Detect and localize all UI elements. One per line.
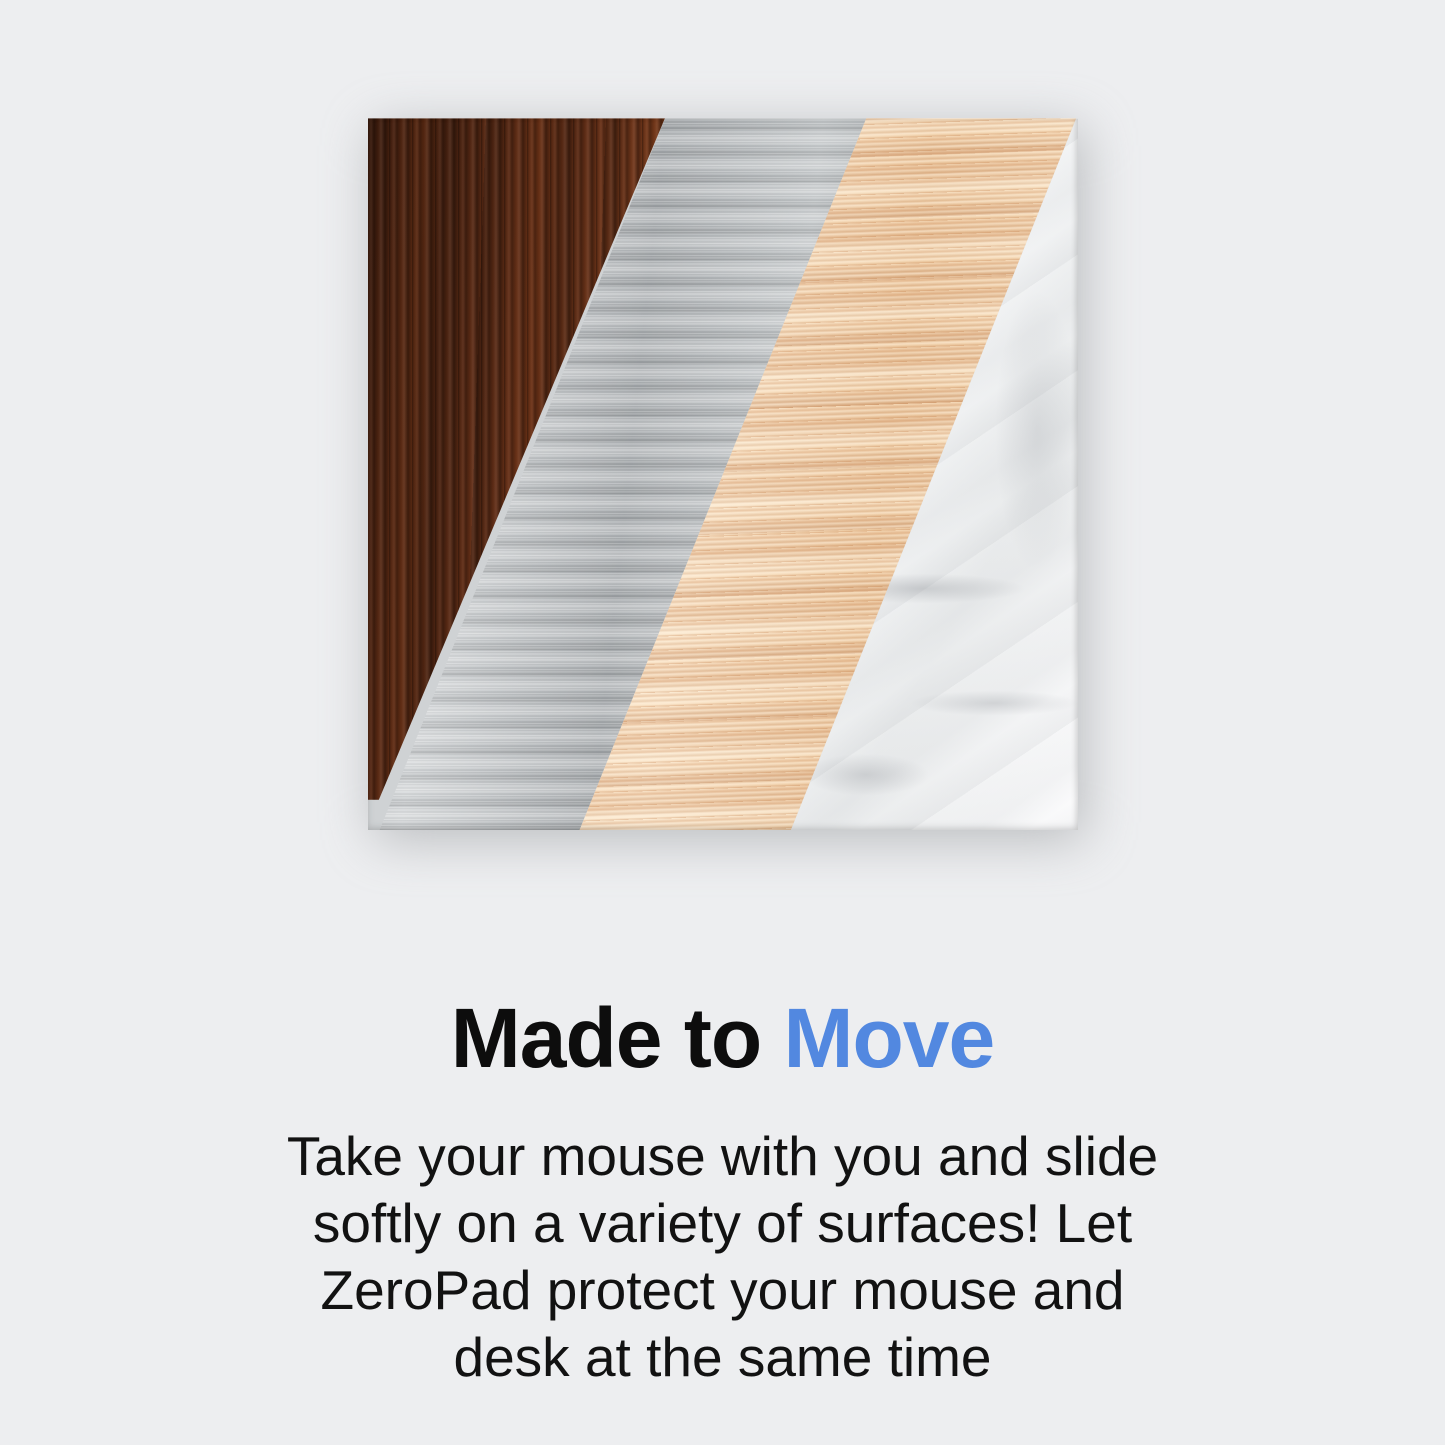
promo-page: Made to Move Take your mouse with you an… (0, 0, 1445, 1445)
hero-image (368, 118, 1078, 830)
materials-collage (368, 118, 1078, 830)
body-description: Take your mouse with you and slide softl… (263, 1123, 1183, 1391)
page-title: Made to Move (0, 996, 1445, 1080)
headline-primary: Made to (451, 991, 784, 1085)
headline-accent: Move (783, 991, 994, 1085)
